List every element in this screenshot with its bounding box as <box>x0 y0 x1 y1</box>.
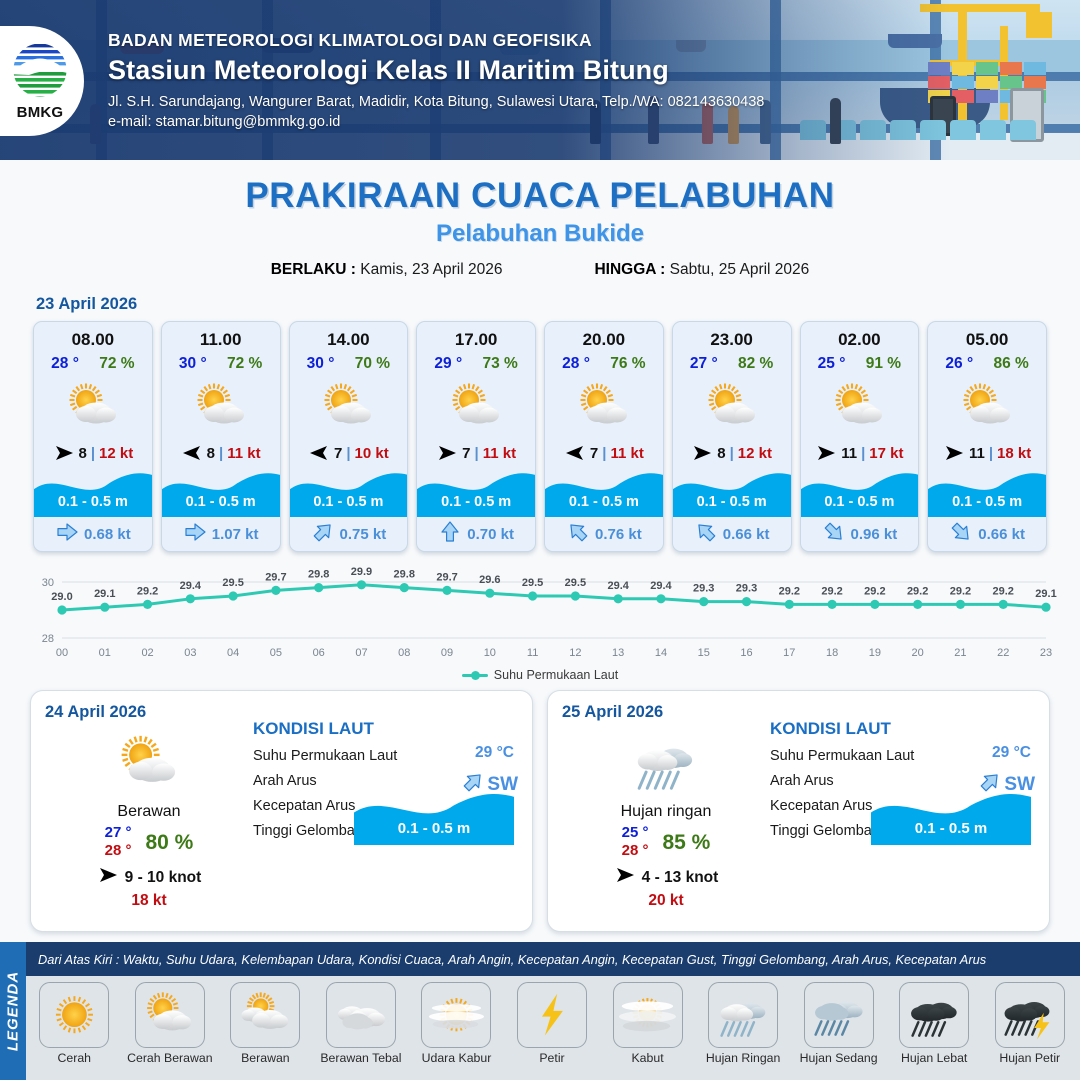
panel-gust: 20 kt <box>566 892 766 910</box>
svg-text:20: 20 <box>912 647 924 659</box>
sea-condition-title: KONDISI LAUT <box>770 719 1037 739</box>
svg-text:04: 04 <box>227 647 239 659</box>
card-humidity: 72 % <box>99 355 134 373</box>
panel-wind-range: 9 - 10 knot <box>125 869 202 887</box>
separator: | <box>219 445 223 462</box>
weather-icon-petir <box>517 982 587 1048</box>
daily-panel: 24 April 2026 Berawan 27 ° 28 ° 80 % 9 -… <box>30 690 533 932</box>
station-email: e-mail: stamar.bitung@bmmkg.go.id <box>108 114 764 130</box>
wave-block: 0.1 - 0.5 m <box>162 469 280 517</box>
svg-text:29.7: 29.7 <box>265 571 286 583</box>
station-name: Stasiun Meteorologi Kelas II Maritim Bit… <box>108 55 764 86</box>
panel-humidity: 85 % <box>662 831 710 855</box>
svg-text:29.2: 29.2 <box>907 585 928 597</box>
weather-icon-hujan-ringan <box>566 727 766 799</box>
legend-note-bar: Dari Atas Kiri : Waktu, Suhu Udara, Kele… <box>26 942 1080 976</box>
card-time: 08.00 <box>34 322 152 350</box>
panel-condition: Berawan <box>49 803 249 821</box>
weather-icon-cerah-berawan <box>34 376 152 438</box>
current-direction-arrow-icon <box>55 521 79 548</box>
separator: | <box>989 445 993 462</box>
wave-height: 0.1 - 0.5 m <box>928 494 1046 510</box>
wave-block: 0.1 - 0.5 m <box>290 469 408 517</box>
separator: | <box>475 445 479 462</box>
svg-text:06: 06 <box>313 647 325 659</box>
page-subtitle: Pelabuhan Bukide <box>0 220 1080 248</box>
separator: | <box>346 445 350 462</box>
wind-speed: 7 <box>462 445 470 462</box>
svg-text:03: 03 <box>184 647 196 659</box>
legend-band-title: LEGENDA <box>5 971 22 1051</box>
card-time: 14.00 <box>290 322 408 350</box>
legend-item-label: Hujan Lebat <box>890 1051 979 1065</box>
wave-block: 0.1 - 0.5 m <box>673 469 791 517</box>
legend-item: Hujan Ringan <box>699 982 788 1065</box>
bmkg-logo: BMKG <box>0 26 84 136</box>
weather-icon-cerah-berawan <box>801 376 919 438</box>
card-time: 02.00 <box>801 322 919 350</box>
current-direction-arrow-icon <box>311 521 335 548</box>
svg-text:29.5: 29.5 <box>522 577 543 589</box>
panel-temp-min: 25 ° <box>622 824 649 841</box>
current-direction-arrow-icon <box>822 521 846 548</box>
panel-temp-min: 27 ° <box>105 824 132 841</box>
legend-item: Udara Kabur <box>412 982 501 1065</box>
legend-item-label: Hujan Ringan <box>699 1051 788 1065</box>
svg-text:29.4: 29.4 <box>180 580 202 592</box>
svg-text:29.2: 29.2 <box>993 585 1014 597</box>
card-humidity: 72 % <box>227 355 262 373</box>
sea-condition-title: KONDISI LAUT <box>253 719 520 739</box>
weather-icon-cerah-berawan <box>290 376 408 438</box>
svg-text:13: 13 <box>612 647 624 659</box>
panel-wind-range: 4 - 13 knot <box>642 869 719 887</box>
wave-block: 0.1 - 0.5 m <box>801 469 919 517</box>
svg-text:29.8: 29.8 <box>394 569 415 581</box>
legend-item-label: Cerah Berawan <box>126 1051 215 1065</box>
svg-text:14: 14 <box>655 647 667 659</box>
svg-text:29.6: 29.6 <box>479 574 500 586</box>
daily-forecast-panels: 24 April 2026 Berawan 27 ° 28 ° 80 % 9 -… <box>0 690 1080 932</box>
legend-item-label: Petir <box>508 1051 597 1065</box>
hourly-card: 14.00 30 ° 70 % 7 | 10 kt 0.1 - 0.5 m 0.… <box>289 321 409 552</box>
wind-speed: 8 <box>79 445 87 462</box>
card-humidity: 86 % <box>993 355 1028 373</box>
weather-icon-udara-kabur <box>421 982 491 1048</box>
weather-icon-cerah <box>39 982 109 1048</box>
current-direction-arrow-icon <box>949 521 973 548</box>
value-sst: 29 °C <box>992 744 1031 762</box>
hourly-card: 17.00 29 ° 73 % 7 | 11 kt 0.1 - 0.5 m 0.… <box>416 321 536 552</box>
card-humidity: 76 % <box>610 355 645 373</box>
svg-text:12: 12 <box>569 647 581 659</box>
card-humidity: 70 % <box>355 355 390 373</box>
valid-to: HINGGA : Sabtu, 25 April 2026 <box>594 261 809 279</box>
current-direction-arrow-icon <box>694 521 718 548</box>
card-temperature: 30 ° <box>179 355 207 373</box>
separator: | <box>730 445 734 462</box>
svg-text:29.9: 29.9 <box>351 566 372 578</box>
weather-icon-cerah-berawan <box>928 376 1046 438</box>
wind-direction-arrow-icon <box>691 444 713 462</box>
svg-text:29.4: 29.4 <box>650 580 672 592</box>
panel-wave-block: 0.1 - 0.5 m <box>354 789 514 845</box>
page-header: BMKG BADAN METEOROLOGI KLIMATOLOGI DAN G… <box>0 0 1080 160</box>
wind-speed: 8 <box>207 445 215 462</box>
svg-text:29.2: 29.2 <box>864 585 885 597</box>
hourly-card: 08.00 28 ° 72 % 8 | 12 kt 0.1 - 0.5 m 0.… <box>33 321 153 552</box>
wave-block: 0.1 - 0.5 m <box>928 469 1046 517</box>
card-temperature: 25 ° <box>818 355 846 373</box>
wind-speed: 8 <box>717 445 725 462</box>
legend-item: Hujan Sedang <box>794 982 883 1065</box>
wind-gust: 18 kt <box>997 445 1031 462</box>
svg-text:29.7: 29.7 <box>436 571 457 583</box>
wind-speed: 7 <box>590 445 598 462</box>
panel-temp-max: 28 ° <box>105 841 132 861</box>
weather-icon-cerah-berawan <box>49 727 249 799</box>
legend-item: Berawan Tebal <box>317 982 406 1065</box>
wind-direction-arrow-icon <box>97 866 119 889</box>
svg-text:28: 28 <box>42 633 54 645</box>
wind-gust: 11 kt <box>483 445 516 462</box>
wind-speed: 11 <box>841 445 857 462</box>
svg-text:15: 15 <box>698 647 710 659</box>
current-speed: 0.96 kt <box>851 526 898 543</box>
svg-text:11: 11 <box>527 647 538 659</box>
svg-text:05: 05 <box>270 647 282 659</box>
separator: | <box>91 445 95 462</box>
legend-icon-list: Cerah Cerah Berawan Berawan Berawan Teba… <box>30 982 1074 1065</box>
svg-text:10: 10 <box>484 647 496 659</box>
weather-icon-berawan <box>230 982 300 1048</box>
svg-text:29.2: 29.2 <box>821 585 842 597</box>
weather-icon-cerah-berawan <box>162 376 280 438</box>
svg-text:19: 19 <box>869 647 881 659</box>
legend-item: Cerah <box>30 982 119 1065</box>
legend-item: Hujan Petir <box>985 982 1074 1065</box>
weather-icon-berawan-tebal <box>326 982 396 1048</box>
weather-icon-cerah-berawan <box>135 982 205 1048</box>
valid-from-label: BERLAKU : <box>271 261 356 278</box>
wind-gust: 12 kt <box>738 445 772 462</box>
svg-text:00: 00 <box>56 647 68 659</box>
page-title: PRAKIRAAN CUACA PELABUHAN <box>0 176 1080 216</box>
card-humidity: 91 % <box>866 355 901 373</box>
separator: | <box>861 445 865 462</box>
legend-label-sst: Suhu Permukaan Laut <box>494 668 618 682</box>
svg-text:29.3: 29.3 <box>736 583 757 595</box>
legend-item-label: Kabut <box>603 1051 692 1065</box>
svg-text:09: 09 <box>441 647 453 659</box>
legend-item-label: Hujan Petir <box>985 1051 1074 1065</box>
wind-direction-arrow-icon <box>181 444 203 462</box>
card-temperature: 30 ° <box>307 355 335 373</box>
card-temperature: 28 ° <box>51 355 79 373</box>
wind-gust: 17 kt <box>869 445 903 462</box>
current-speed: 0.68 kt <box>84 526 131 543</box>
card-time: 17.00 <box>417 322 535 350</box>
legend-item: Kabut <box>603 982 692 1065</box>
card-time: 05.00 <box>928 322 1046 350</box>
svg-text:29.2: 29.2 <box>137 585 158 597</box>
card-temperature: 29 ° <box>434 355 462 373</box>
weather-icon-hujan-sedang <box>804 982 874 1048</box>
weather-icon-kabut <box>613 982 683 1048</box>
current-speed: 1.07 kt <box>212 526 259 543</box>
current-speed: 0.75 kt <box>340 526 387 543</box>
svg-text:16: 16 <box>740 647 752 659</box>
wind-direction-arrow-icon <box>943 444 965 462</box>
legend-item: Petir <box>508 982 597 1065</box>
svg-text:29.4: 29.4 <box>607 580 629 592</box>
wind-gust: 11 kt <box>610 445 643 462</box>
card-temperature: 26 ° <box>945 355 973 373</box>
panel-wave-block: 0.1 - 0.5 m <box>871 789 1031 845</box>
wind-direction-arrow-icon <box>815 444 837 462</box>
svg-text:22: 22 <box>997 647 1009 659</box>
wind-speed: 7 <box>334 445 342 462</box>
sst-chart: 283029.029.129.229.429.529.729.829.929.8… <box>18 564 1062 666</box>
chart-legend: Suhu Permukaan Laut <box>0 668 1080 682</box>
wind-direction-arrow-icon <box>308 444 330 462</box>
card-humidity: 82 % <box>738 355 773 373</box>
legend-item-label: Berawan <box>221 1051 310 1065</box>
valid-from-value: Kamis, 23 April 2026 <box>360 261 502 278</box>
logo-text: BMKG <box>17 104 64 121</box>
card-temperature: 27 ° <box>690 355 718 373</box>
wind-direction-arrow-icon <box>53 444 75 462</box>
legend-item: Hujan Lebat <box>890 982 979 1065</box>
legend-section: LEGENDA Dari Atas Kiri : Waktu, Suhu Uda… <box>0 942 1080 1080</box>
weather-icon-hujan-ringan <box>708 982 778 1048</box>
validity-row: BERLAKU : Kamis, 23 April 2026 HINGGA : … <box>0 261 1080 279</box>
card-time: 11.00 <box>162 322 280 350</box>
hourly-card: 20.00 28 ° 76 % 7 | 11 kt 0.1 - 0.5 m 0.… <box>544 321 664 552</box>
card-time: 23.00 <box>673 322 791 350</box>
current-direction-arrow-icon <box>438 521 462 548</box>
hourly-card: 11.00 30 ° 72 % 8 | 11 kt 0.1 - 0.5 m 1.… <box>161 321 281 552</box>
value-wave-height: 0.1 - 0.5 m <box>354 820 514 837</box>
header-text-block: BADAN METEOROLOGI KLIMATOLOGI DAN GEOFIS… <box>108 30 764 130</box>
wind-gust: 11 kt <box>227 445 260 462</box>
svg-text:29.1: 29.1 <box>94 588 115 600</box>
legend-item-label: Hujan Sedang <box>794 1051 883 1065</box>
value-sst: 29 °C <box>475 744 514 762</box>
svg-text:29.5: 29.5 <box>565 577 586 589</box>
svg-text:02: 02 <box>141 647 153 659</box>
weather-icon-cerah-berawan <box>673 376 791 438</box>
weather-icon-cerah-berawan <box>545 376 663 438</box>
wave-height: 0.1 - 0.5 m <box>34 494 152 510</box>
legend-band: LEGENDA <box>0 942 26 1080</box>
svg-text:29.1: 29.1 <box>1035 588 1056 600</box>
current-speed: 0.66 kt <box>978 526 1025 543</box>
legend-item-label: Cerah <box>30 1051 119 1065</box>
card-temperature: 28 ° <box>562 355 590 373</box>
legend-item-label: Udara Kabur <box>412 1051 501 1065</box>
svg-text:29.5: 29.5 <box>222 577 243 589</box>
svg-text:08: 08 <box>398 647 410 659</box>
wave-height: 0.1 - 0.5 m <box>290 494 408 510</box>
legend-note: Dari Atas Kiri : Waktu, Suhu Udara, Kele… <box>38 952 986 967</box>
svg-text:29.2: 29.2 <box>779 585 800 597</box>
wind-speed: 11 <box>969 445 985 462</box>
wind-direction-arrow-icon <box>614 866 636 889</box>
svg-text:17: 17 <box>783 647 795 659</box>
weather-icon-cerah-berawan <box>417 376 535 438</box>
current-direction-arrow-icon <box>566 521 590 548</box>
card-time: 20.00 <box>545 322 663 350</box>
svg-text:21: 21 <box>954 647 966 659</box>
wave-block: 0.1 - 0.5 m <box>545 469 663 517</box>
current-speed: 0.66 kt <box>723 526 770 543</box>
svg-text:01: 01 <box>99 647 111 659</box>
wave-block: 0.1 - 0.5 m <box>417 469 535 517</box>
svg-text:29.8: 29.8 <box>308 569 329 581</box>
svg-text:30: 30 <box>42 577 54 589</box>
weather-icon-hujan-petir <box>995 982 1065 1048</box>
svg-text:18: 18 <box>826 647 838 659</box>
weather-icon-hujan-lebat <box>899 982 969 1048</box>
value-wave-height: 0.1 - 0.5 m <box>871 820 1031 837</box>
panel-temp-max: 28 ° <box>622 841 649 861</box>
panel-humidity: 80 % <box>145 831 193 855</box>
legend-line-marker <box>462 674 488 677</box>
current-speed: 0.76 kt <box>595 526 642 543</box>
wind-direction-arrow-icon <box>564 444 586 462</box>
legend-item: Cerah Berawan <box>126 982 215 1065</box>
valid-to-label: HINGGA : <box>594 261 665 278</box>
svg-text:29.3: 29.3 <box>693 583 714 595</box>
wind-gust: 12 kt <box>99 445 133 462</box>
current-speed: 0.70 kt <box>467 526 514 543</box>
bmkg-emblem-icon <box>9 41 71 103</box>
svg-text:07: 07 <box>355 647 367 659</box>
wave-height: 0.1 - 0.5 m <box>545 494 663 510</box>
wind-gust: 10 kt <box>355 445 389 462</box>
agency-name: BADAN METEOROLOGI KLIMATOLOGI DAN GEOFIS… <box>108 30 764 51</box>
hourly-date-label: 23 April 2026 <box>36 295 1080 314</box>
hourly-card: 02.00 25 ° 91 % 11 | 17 kt 0.1 - 0.5 m 0… <box>800 321 920 552</box>
wave-height: 0.1 - 0.5 m <box>673 494 791 510</box>
valid-from: BERLAKU : Kamis, 23 April 2026 <box>271 261 503 279</box>
hourly-card: 05.00 26 ° 86 % 11 | 18 kt 0.1 - 0.5 m 0… <box>927 321 1047 552</box>
svg-text:29.2: 29.2 <box>950 585 971 597</box>
svg-text:23: 23 <box>1040 647 1052 659</box>
current-direction-arrow-icon <box>183 521 207 548</box>
station-address: Jl. S.H. Sarundajang, Wangurer Barat, Ma… <box>108 94 764 110</box>
hourly-forecast-row: 08.00 28 ° 72 % 8 | 12 kt 0.1 - 0.5 m 0.… <box>0 321 1080 552</box>
wave-height: 0.1 - 0.5 m <box>162 494 280 510</box>
valid-to-value: Sabtu, 25 April 2026 <box>670 261 810 278</box>
panel-gust: 18 kt <box>49 892 249 910</box>
card-humidity: 73 % <box>482 355 517 373</box>
wave-height: 0.1 - 0.5 m <box>417 494 535 510</box>
wave-height: 0.1 - 0.5 m <box>801 494 919 510</box>
legend-item: Berawan <box>221 982 310 1065</box>
legend-item-label: Berawan Tebal <box>317 1051 406 1065</box>
wave-block: 0.1 - 0.5 m <box>34 469 152 517</box>
wind-direction-arrow-icon <box>436 444 458 462</box>
hourly-card: 23.00 27 ° 82 % 8 | 12 kt 0.1 - 0.5 m 0.… <box>672 321 792 552</box>
separator: | <box>602 445 606 462</box>
svg-text:29.0: 29.0 <box>51 591 72 603</box>
daily-panel: 25 April 2026 Hujan ringan 25 ° 28 ° 85 … <box>547 690 1050 932</box>
panel-condition: Hujan ringan <box>566 803 766 821</box>
